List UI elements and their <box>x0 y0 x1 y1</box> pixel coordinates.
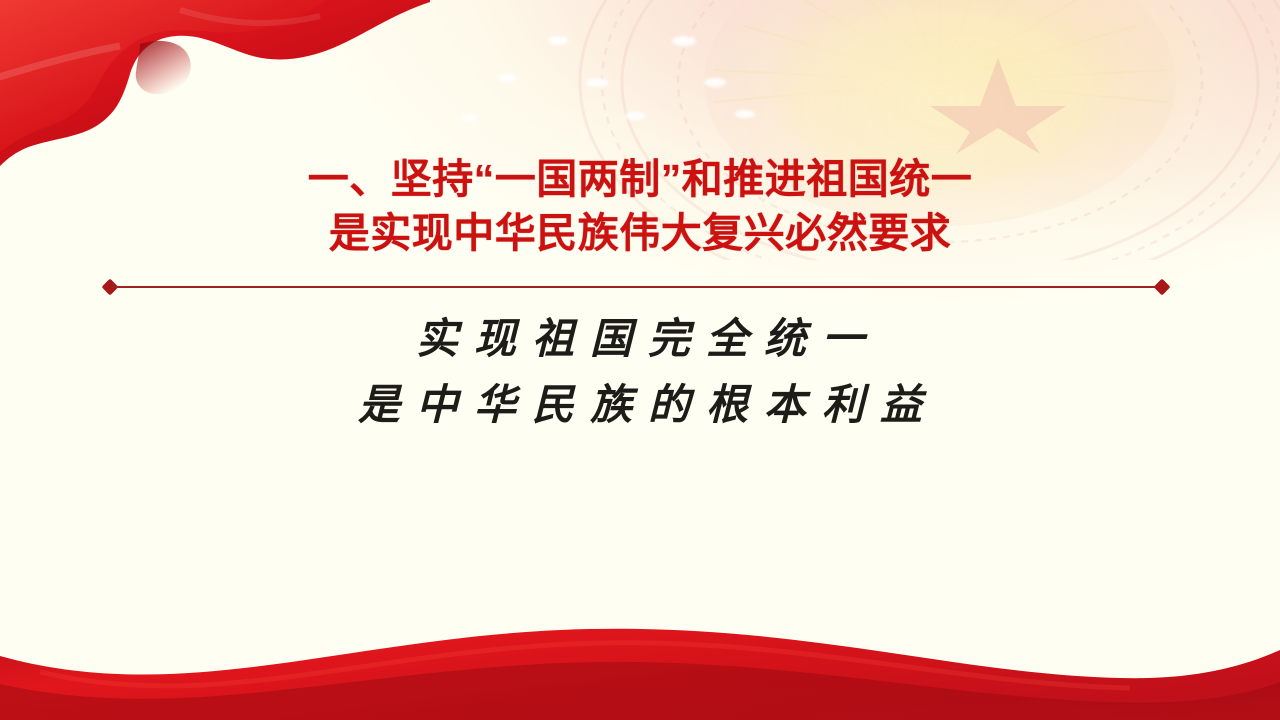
subtitle-line-2: 是中华民族的根本利益 <box>0 372 1280 438</box>
subtitle-line-1: 实现祖国完全统一 <box>0 306 1280 372</box>
slide-canvas: 一、坚持“一国两制”和推进祖国统一 是实现中华民族伟大复兴必然要求 实现祖国完全… <box>0 0 1280 720</box>
horizontal-divider <box>104 280 1168 294</box>
title-line-1: 一、坚持“一国两制”和推进祖国统一 <box>0 152 1280 206</box>
slide-subtitle: 实现祖国完全统一 是中华民族的根本利益 <box>0 306 1280 438</box>
slide-title: 一、坚持“一国两制”和推进祖国统一 是实现中华民族伟大复兴必然要求 <box>0 152 1280 260</box>
divider-diamond-right-icon <box>1154 279 1171 296</box>
title-line-2: 是实现中华民族伟大复兴必然要求 <box>0 206 1280 260</box>
divider-rule <box>111 286 1161 288</box>
